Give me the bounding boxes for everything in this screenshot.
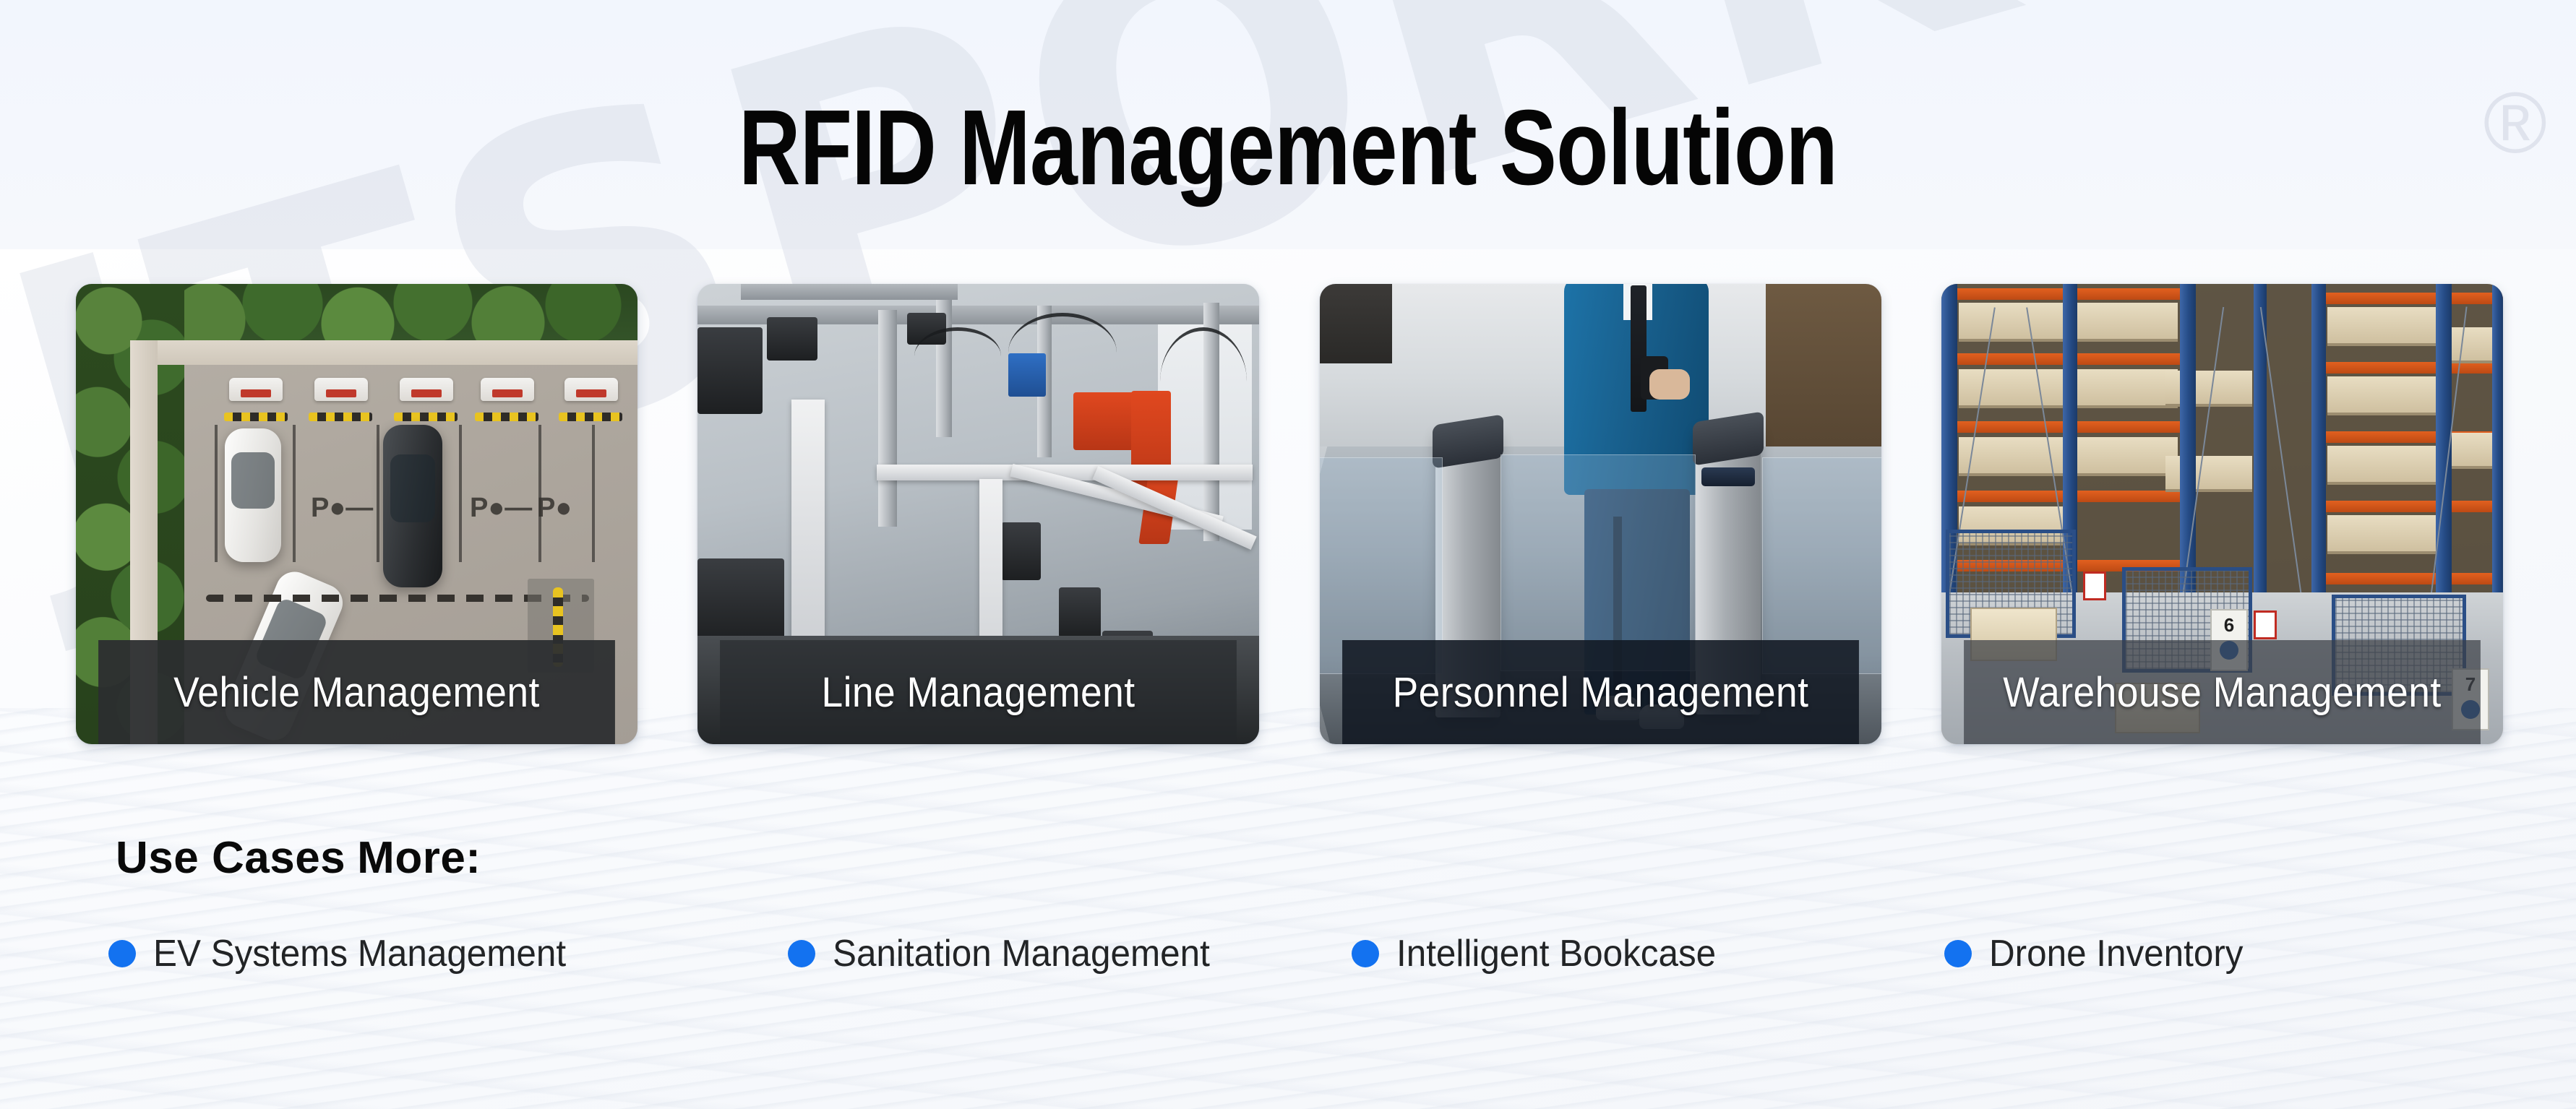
bullet-icon xyxy=(788,940,815,967)
solution-card-line[interactable]: Line Management xyxy=(697,284,1259,744)
use-case-item-sanitation[interactable]: Sanitation Management xyxy=(788,932,1352,975)
use-cases-list: EV Systems Management Sanitation Managem… xyxy=(108,932,2486,975)
use-case-item-ev-systems[interactable]: EV Systems Management xyxy=(108,932,788,975)
use-case-item-intelligent-bookcase[interactable]: Intelligent Bookcase xyxy=(1352,932,1944,975)
use-case-label: Sanitation Management xyxy=(833,932,1210,975)
page-title: RFID Management Solution xyxy=(257,87,2318,210)
use-cases-heading-part1: Use Cases xyxy=(116,833,345,883)
bullet-icon xyxy=(1944,940,1972,967)
warehouse-aisle-number-6: 6 xyxy=(2212,610,2246,639)
bullet-icon xyxy=(1352,940,1379,967)
solution-card-personnel[interactable]: Personnel Management xyxy=(1320,284,1881,744)
use-case-item-drone-inventory[interactable]: Drone Inventory xyxy=(1944,932,2378,975)
card-caption-warehouse: Warehouse Management xyxy=(1964,640,2481,744)
bullet-icon xyxy=(108,940,136,967)
solution-card-grid: P●— P●— P● Vehicle Management xyxy=(76,284,2503,744)
solution-card-vehicle[interactable]: P●— P●— P● Vehicle Management xyxy=(76,284,637,744)
rfid-solution-banner: JTSPORK ® RFID Management Solution xyxy=(0,0,2576,1109)
use-case-label: EV Systems Management xyxy=(153,932,566,975)
use-cases-heading-part2: More: xyxy=(357,833,481,883)
use-case-label: Drone Inventory xyxy=(1989,932,2243,975)
use-case-label: Intelligent Bookcase xyxy=(1396,932,1716,975)
card-caption-vehicle: Vehicle Management xyxy=(98,640,615,744)
card-caption-personnel: Personnel Management xyxy=(1342,640,1859,744)
solution-card-warehouse[interactable]: 6 7 Warehouse Management xyxy=(1941,284,2503,744)
card-caption-line: Line Management xyxy=(720,640,1237,744)
background-texture xyxy=(0,708,2576,1109)
use-cases-heading: Use CasesMore: xyxy=(116,832,481,884)
